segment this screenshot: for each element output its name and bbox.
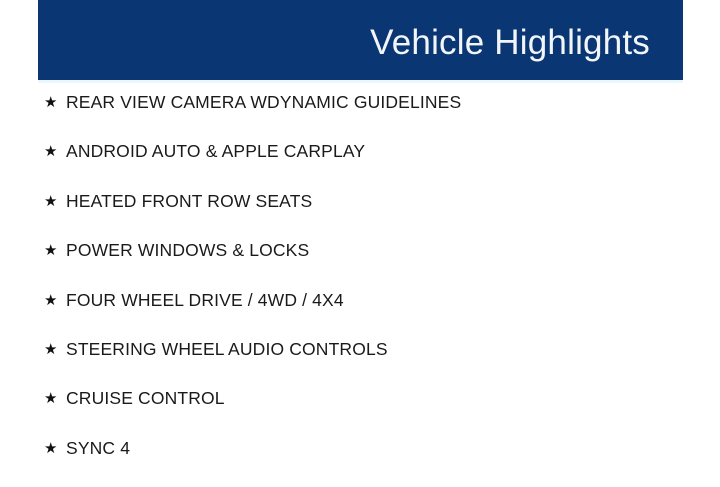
list-item: ★ POWER WINDOWS & LOCKS (44, 240, 684, 289)
list-item: ★ ANDROID AUTO & APPLE CARPLAY (44, 141, 684, 190)
highlight-label: ANDROID AUTO & APPLE CARPLAY (66, 141, 365, 161)
list-item: ★ STEERING WHEEL AUDIO CONTROLS (44, 339, 684, 388)
star-bullet-icon: ★ (44, 191, 66, 212)
star-bullet-icon: ★ (44, 290, 66, 311)
vehicle-highlights-list: ★ REAR VIEW CAMERA WDYNAMIC GUIDELINES ★… (44, 92, 684, 487)
list-item: ★ REAR VIEW CAMERA WDYNAMIC GUIDELINES (44, 92, 684, 141)
highlight-label: FOUR WHEEL DRIVE / 4WD / 4X4 (66, 290, 344, 310)
highlight-label: STEERING WHEEL AUDIO CONTROLS (66, 339, 388, 359)
header-underline-divider (38, 80, 683, 83)
header-band: Vehicle Highlights (38, 0, 683, 80)
star-bullet-icon: ★ (44, 92, 66, 113)
star-bullet-icon: ★ (44, 141, 66, 162)
star-bullet-icon: ★ (44, 388, 66, 409)
highlight-label: REAR VIEW CAMERA WDYNAMIC GUIDELINES (66, 92, 461, 112)
star-bullet-icon: ★ (44, 339, 66, 360)
highlight-label: CRUISE CONTROL (66, 388, 225, 408)
vehicle-highlights-slide: Vehicle Highlights ★ REAR VIEW CAMERA WD… (0, 0, 720, 480)
star-bullet-icon: ★ (44, 240, 66, 261)
highlight-label: HEATED FRONT ROW SEATS (66, 191, 312, 211)
highlight-label: SYNC 4 (66, 438, 130, 458)
page-title: Vehicle Highlights (370, 21, 683, 60)
list-item: ★ FOUR WHEEL DRIVE / 4WD / 4X4 (44, 290, 684, 339)
list-item: ★ CRUISE CONTROL (44, 388, 684, 437)
list-item: ★ HEATED FRONT ROW SEATS (44, 191, 684, 240)
star-bullet-icon: ★ (44, 438, 66, 459)
highlight-label: POWER WINDOWS & LOCKS (66, 240, 309, 260)
